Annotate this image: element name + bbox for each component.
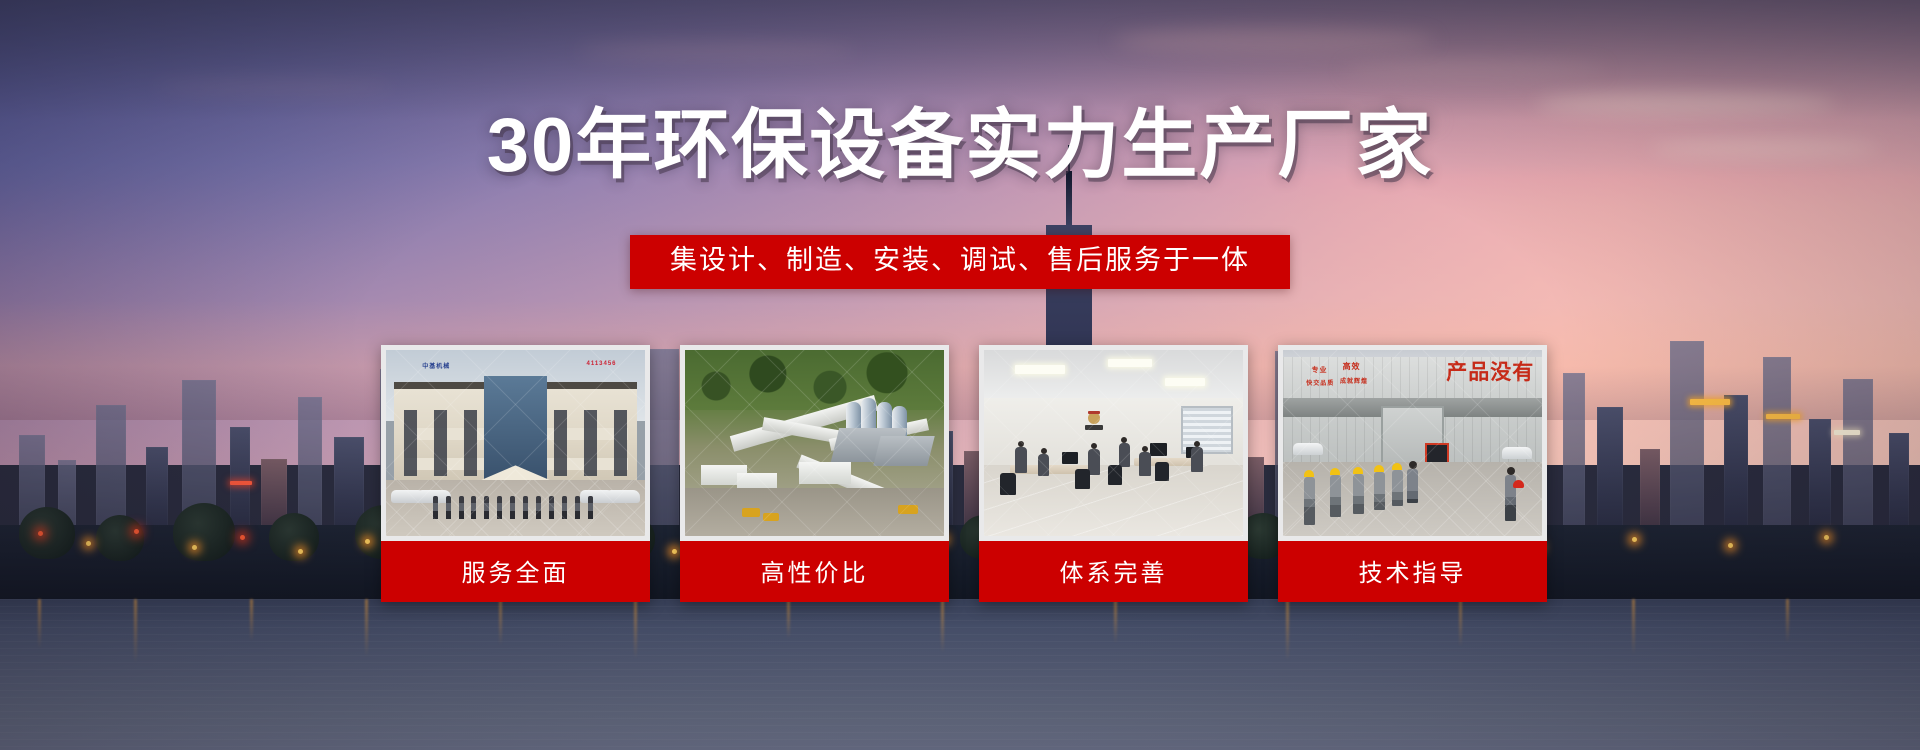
hero-banner: 30年环保设备实力生产厂家 集设计、制造、安装、调试、售后服务于一体 中基机械 … <box>0 0 1920 750</box>
feature-card-service[interactable]: 中基机械 4113456 <box>381 345 650 602</box>
factory-slogan-main: 产品没有 <box>1446 356 1534 386</box>
river-water <box>0 599 1920 750</box>
feature-card-value[interactable]: 高性价比 <box>680 345 949 602</box>
factory-workers-photo: 产品没有 专业 高效 快交品质 成就辉煌 <box>1283 350 1542 536</box>
feature-card-label: 技术指导 <box>1278 541 1547 602</box>
feature-card-label: 服务全面 <box>381 541 650 602</box>
subtitle-ribbon-container: 集设计、制造、安装、调试、售后服务于一体 <box>0 235 1920 289</box>
feature-card-guidance[interactable]: 产品没有 专业 高效 快交品质 成就辉煌 <box>1278 345 1547 602</box>
factory-slogan-4: 成就辉煌 <box>1340 376 1368 385</box>
cloud <box>576 42 856 60</box>
page-title: 30年环保设备实力生产厂家 <box>0 108 1920 184</box>
feature-card-label: 高性价比 <box>680 541 949 602</box>
office-interior-photo <box>984 350 1243 536</box>
factory-slogan-2: 高效 <box>1343 361 1361 372</box>
factory-slogan-1: 专业 <box>1311 365 1327 375</box>
factory-slogan-3: 快交品质 <box>1306 378 1334 387</box>
feature-cards: 中基机械 4113456 <box>381 345 1547 602</box>
photo-logo-text: 中基机械 <box>422 361 450 370</box>
cloud <box>154 79 394 95</box>
company-building-photo: 中基机械 4113456 <box>386 350 645 536</box>
subtitle-ribbon: 集设计、制造、安装、调试、售后服务于一体 <box>630 235 1290 289</box>
feature-card-label: 体系完善 <box>979 541 1248 602</box>
aerial-plant-photo <box>685 350 944 536</box>
cloud <box>1114 28 1434 54</box>
wall-decal-icon <box>1077 408 1111 434</box>
photo-phone-text: 4113456 <box>586 361 616 367</box>
feature-card-system[interactable]: 体系完善 <box>979 345 1248 602</box>
